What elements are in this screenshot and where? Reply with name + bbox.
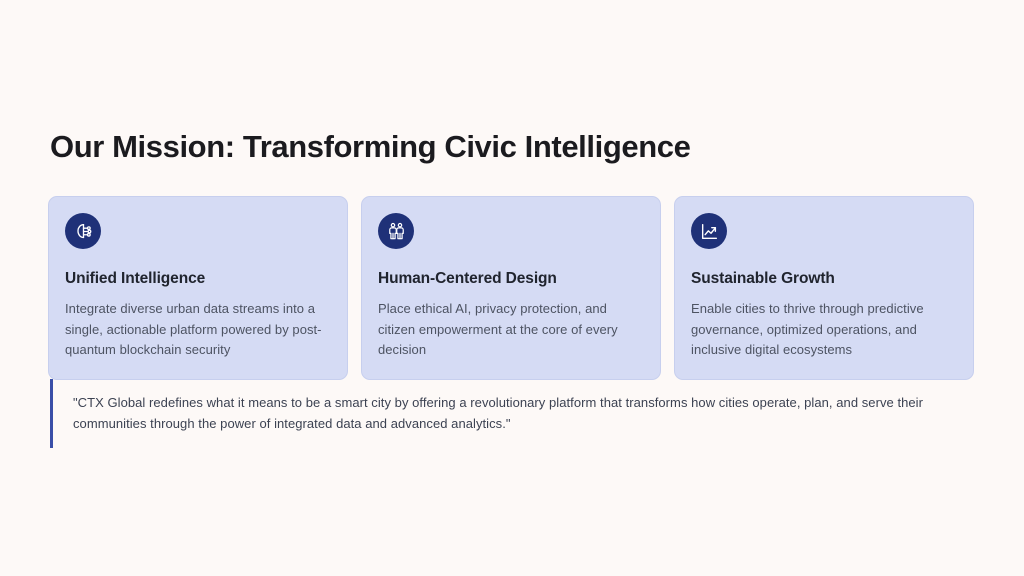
mission-slide: Our Mission: Transforming Civic Intellig… bbox=[0, 0, 1024, 576]
quote-text: "CTX Global redefines what it means to b… bbox=[73, 393, 975, 434]
page-title: Our Mission: Transforming Civic Intellig… bbox=[50, 126, 690, 168]
mission-cards-row: Unified Intelligence Integrate diverse u… bbox=[48, 196, 974, 380]
mission-card-human-centered-design[interactable]: Human-Centered Design Place ethical AI, … bbox=[361, 196, 661, 380]
card-title: Sustainable Growth bbox=[691, 269, 957, 289]
brain-circuit-icon bbox=[65, 213, 101, 249]
mission-quote-block: "CTX Global redefines what it means to b… bbox=[50, 379, 975, 448]
card-description: Integrate diverse urban data streams int… bbox=[65, 299, 331, 361]
trending-up-chart-icon bbox=[691, 213, 727, 249]
card-title: Human-Centered Design bbox=[378, 269, 644, 289]
mission-card-unified-intelligence[interactable]: Unified Intelligence Integrate diverse u… bbox=[48, 196, 348, 380]
people-icon bbox=[378, 213, 414, 249]
mission-card-sustainable-growth[interactable]: Sustainable Growth Enable cities to thri… bbox=[674, 196, 974, 380]
card-title: Unified Intelligence bbox=[65, 269, 331, 289]
card-description: Enable cities to thrive through predicti… bbox=[691, 299, 957, 361]
card-description: Place ethical AI, privacy protection, an… bbox=[378, 299, 644, 361]
